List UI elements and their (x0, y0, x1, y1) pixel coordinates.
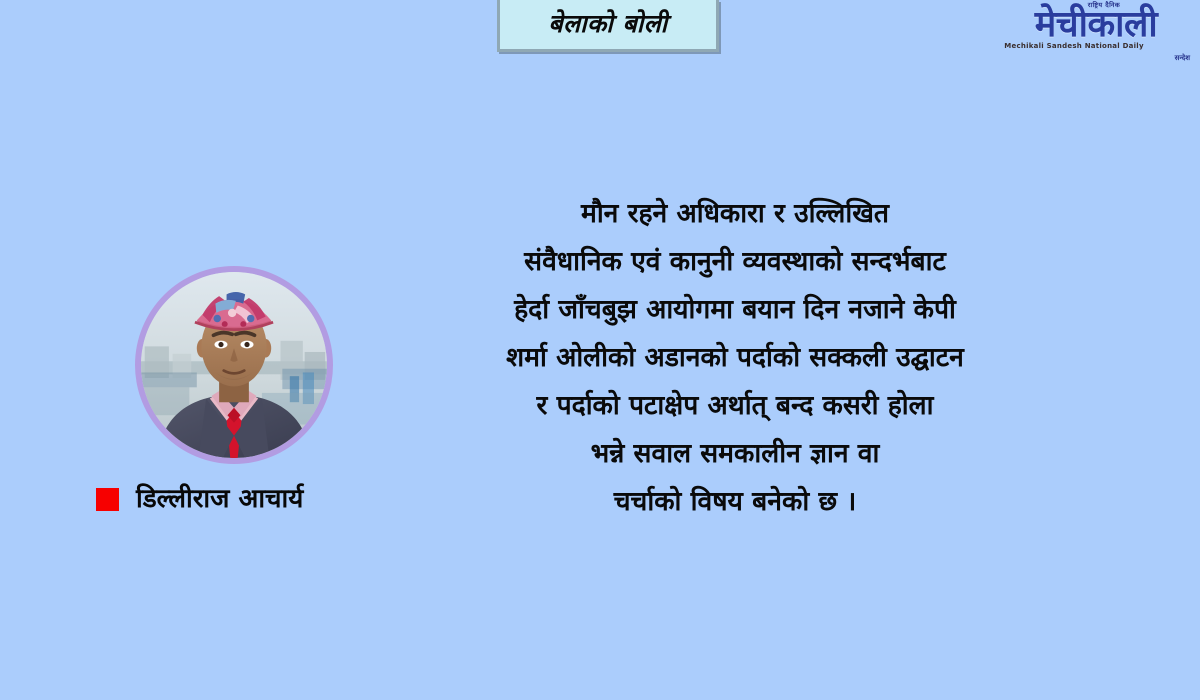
portrait-illustration (141, 272, 327, 458)
author-name: डिल्लीराज आचार्य (136, 486, 303, 512)
avatar-photo (141, 272, 327, 458)
masthead-logo[interactable]: राष्ट्रिय दैनिक मेचीकाली Mechikali Sande… (1000, 2, 1192, 64)
header-banner: बेलाको बोली (497, 0, 719, 52)
quote-line: मौन रहने अधिकारा र उल्लिखित (395, 190, 1075, 238)
bullet-square-icon (96, 488, 119, 511)
author-caption: डिल्लीराज आचार्य (96, 486, 303, 512)
quote-line: शर्मा ओलीको अडानको पर्दाको सक्कली उद्घाट… (395, 334, 1075, 382)
masthead-wordmark: मेचीकाली (1000, 8, 1192, 42)
avatar (135, 266, 333, 464)
quote-block: मौन रहने अधिकारा र उल्लिखित संवैधानिक एव… (395, 190, 1075, 526)
quote-line: हेर्दा जाँचबुझ आयोगमा बयान दिन नजाने केप… (395, 286, 1075, 334)
masthead-suffix: सन्देश (1175, 55, 1190, 62)
quote-line: संवैधानिक एवं कानुनी व्यवस्थाको सन्दर्भब… (395, 238, 1075, 286)
quote-line: र पर्दाको पटाक्षेप अर्थात् बन्द कसरी होल… (395, 382, 1075, 430)
masthead-tagline: Mechikali Sandesh National Daily (1000, 43, 1148, 50)
banner-title: बेलाको बोली (548, 11, 667, 38)
quote-line: चर्चाको विषय बनेको छ । (395, 478, 1075, 526)
quote-line: भन्ने सवाल समकालीन ज्ञान वा (395, 430, 1075, 478)
